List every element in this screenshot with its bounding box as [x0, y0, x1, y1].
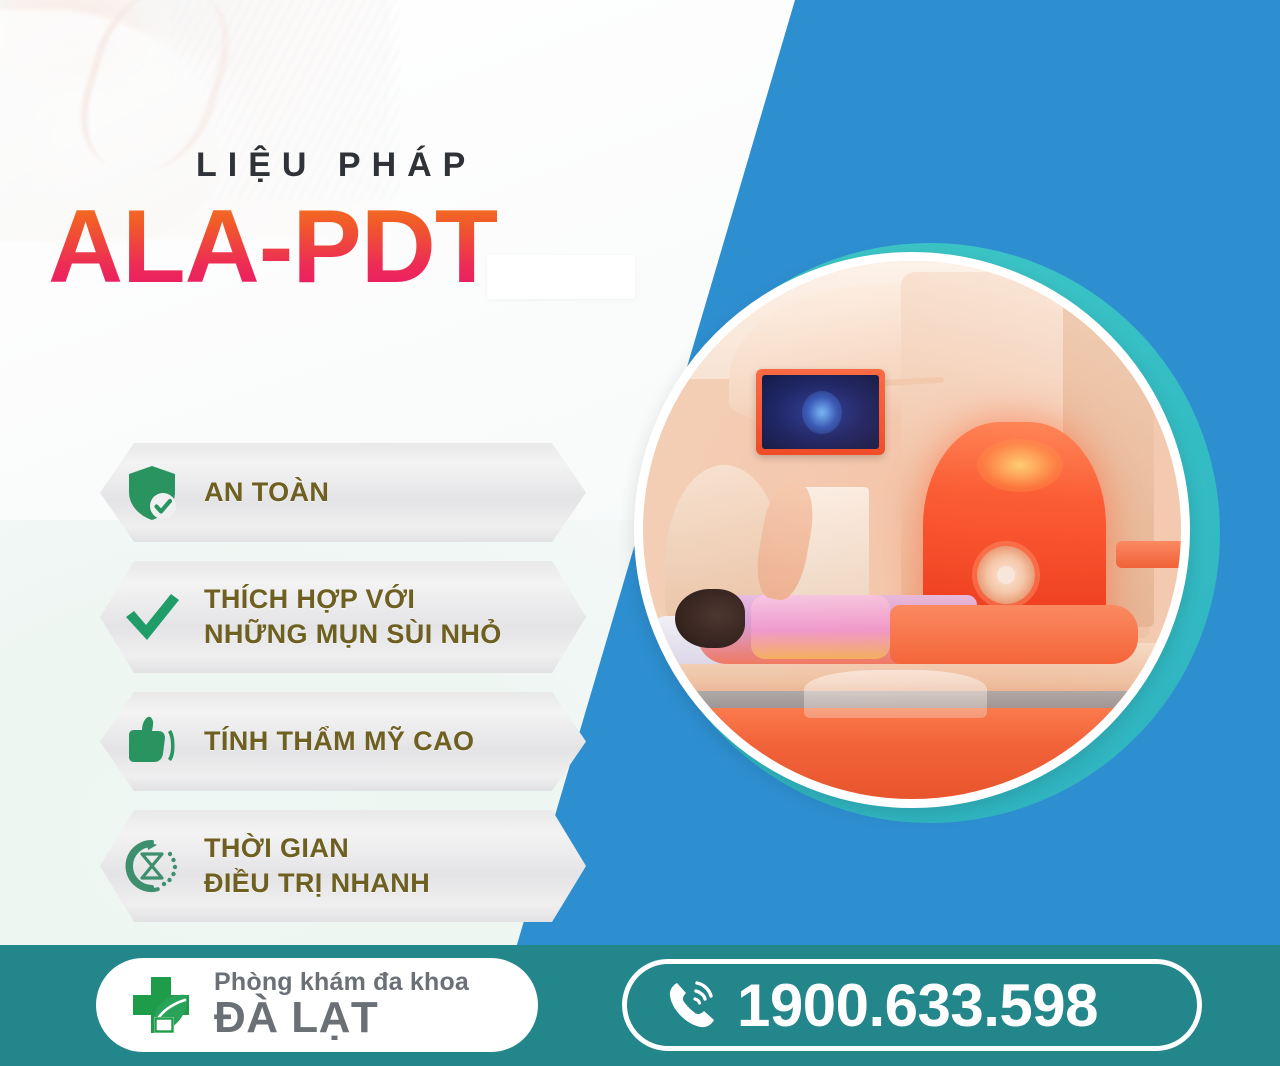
feature-item-an-toan[interactable]: AN TOÀN	[100, 443, 586, 542]
feature-label-line1: THÍCH HỢP VỚI	[204, 582, 502, 617]
footer-bar: Phòng khám đa khoa ĐÀ LẠT 1900.633.598	[0, 945, 1280, 1066]
poster-canvas: LIỆU PHÁP ALA-PDT AN TOÀN	[0, 0, 1280, 1066]
clinic-subtitle: Phòng khám đa khoa	[214, 969, 469, 995]
kicker-text: LIỆU PHÁP	[196, 148, 497, 182]
feature-label-line1: TÍNH THẨM MỸ CAO	[204, 726, 474, 756]
feature-item-thoi-gian[interactable]: THỜI GIAN ĐIỀU TRỊ NHANH	[100, 810, 586, 922]
blank-white-plate	[487, 255, 635, 299]
clinic-brand-pill[interactable]: Phòng khám đa khoa ĐÀ LẠT	[96, 958, 538, 1052]
feature-label-line2: ĐIỀU TRỊ NHANH	[204, 866, 430, 901]
feature-label: THÍCH HỢP VỚI NHỮNG MỤN SÙI NHỎ	[204, 582, 502, 651]
feature-item-thich-hop[interactable]: THÍCH HỢP VỚI NHỮNG MỤN SÙI NHỎ	[100, 561, 586, 673]
thumbs-up-icon	[100, 714, 204, 770]
feature-label-line1: THỜI GIAN	[204, 831, 430, 866]
clock-hourglass-icon	[100, 835, 204, 897]
page-title: ALA-PDT	[48, 194, 497, 300]
feature-item-tham-my[interactable]: TÍNH THẨM MỸ CAO	[100, 692, 586, 791]
feature-label: TÍNH THẨM MỸ CAO	[204, 724, 474, 759]
green-cross-leaf-icon	[122, 969, 200, 1041]
phone-number[interactable]: 1900.633.598	[737, 971, 1098, 1040]
phone-ringing-icon	[661, 977, 723, 1033]
feature-list: AN TOÀN THÍCH HỢP VỚI NHỮNG MỤN SÙI NHỎ	[100, 443, 600, 941]
feature-label-line2: NHỮNG MỤN SÙI NHỎ	[204, 617, 502, 652]
title-block: LIỆU PHÁP ALA-PDT	[48, 148, 497, 300]
photo-scene	[643, 261, 1181, 799]
feature-label: THỜI GIAN ĐIỀU TRỊ NHANH	[204, 831, 430, 900]
photodynamic-therapy-machine-photo	[634, 252, 1190, 808]
feature-label: AN TOÀN	[204, 475, 329, 510]
check-mark-icon	[100, 590, 204, 644]
phone-cta-pill[interactable]: 1900.633.598	[622, 959, 1202, 1051]
feature-label-line1: AN TOÀN	[204, 477, 329, 507]
clinic-name: ĐÀ LẠT	[214, 996, 469, 1041]
clinic-names: Phòng khám đa khoa ĐÀ LẠT	[214, 969, 469, 1041]
shield-check-icon	[100, 464, 204, 522]
